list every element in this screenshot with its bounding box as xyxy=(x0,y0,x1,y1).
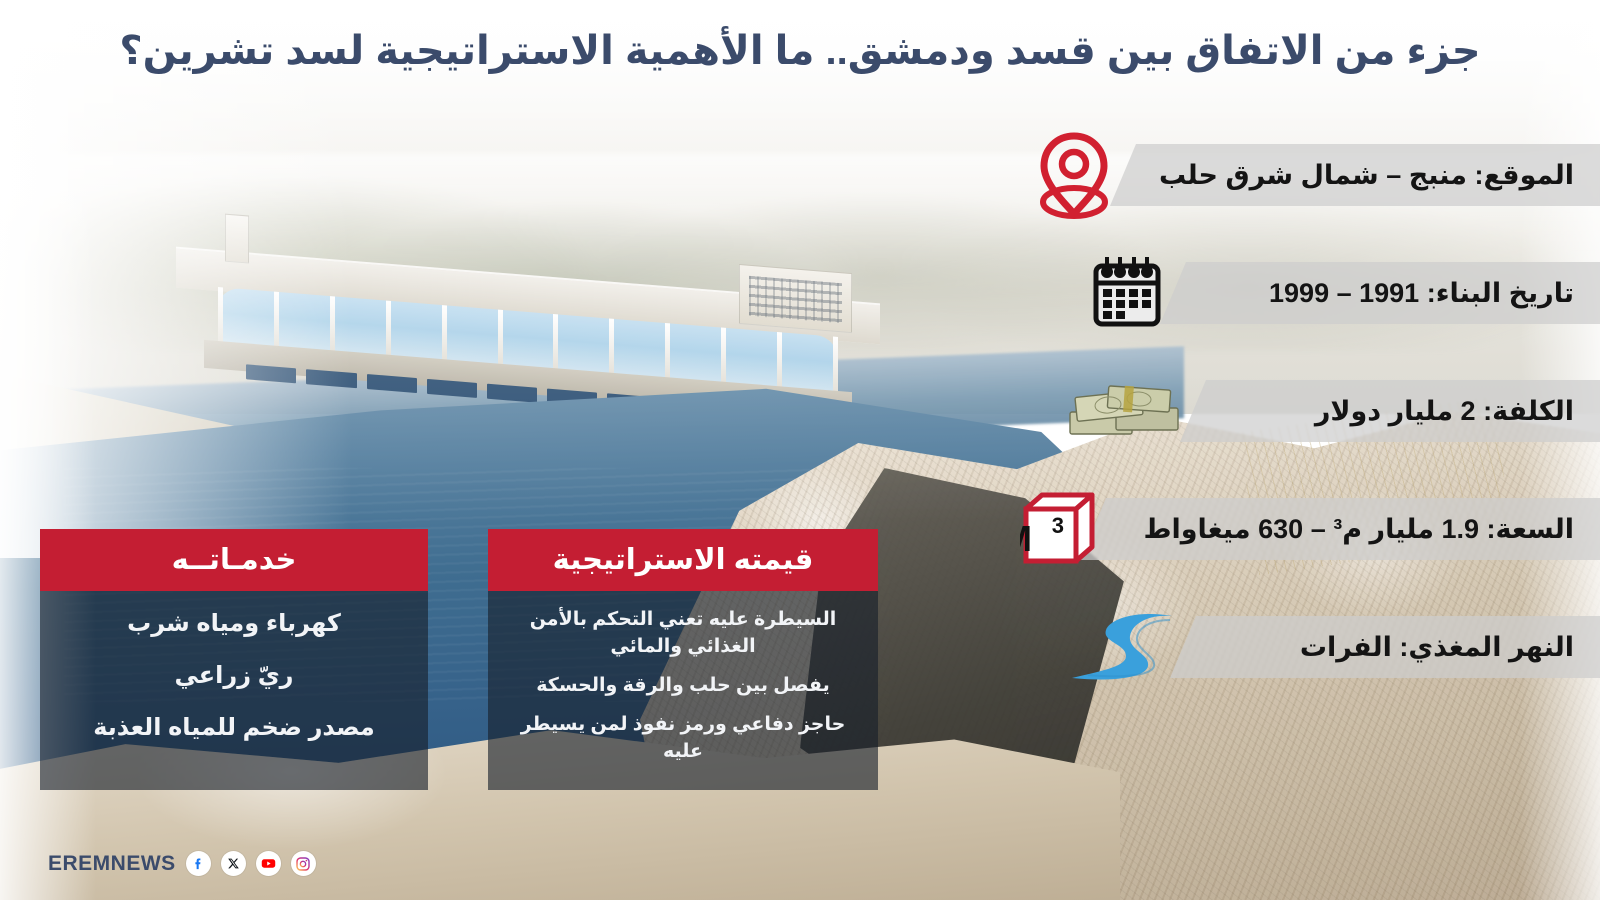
card-line: يفصل بين حلب والرقة والحسكة xyxy=(510,673,856,700)
powerhouse-windows xyxy=(749,276,842,323)
card-strategic-value: قيمته الاستراتيجية السيطرة عليه تعني الت… xyxy=(488,573,878,790)
dam-control-tower xyxy=(225,213,249,262)
card-line: حاجز دفاعي ورمز نفوذ لمن يسيطر عليه xyxy=(510,712,856,766)
instagram-icon[interactable] xyxy=(291,851,316,876)
fact-label-construction-date: تاريخ البناء: 1991 – 1999 xyxy=(1269,278,1574,309)
card-line: السيطرة عليه تعني التحكم بالأمن الغذائي … xyxy=(510,607,856,661)
card-body-strategic-value: السيطرة عليه تعني التحكم بالأمن الغذائي … xyxy=(488,603,878,772)
fact-ribbon-capacity: السعة: 1.9 مليار م³ – 630 ميغاواط xyxy=(1080,498,1600,560)
fact-label-location: الموقع: منبج – شمال شرق حلب xyxy=(1159,160,1574,191)
dam-powerhouse-building xyxy=(739,263,852,333)
fact-ribbon-location: الموقع: منبج – شمال شرق حلب xyxy=(1110,144,1600,206)
money-stack-icon xyxy=(1060,370,1190,450)
facebook-icon[interactable] xyxy=(186,851,211,876)
location-pin-icon xyxy=(1026,128,1122,224)
cubic-meter-icon: M 3 xyxy=(1018,488,1100,568)
brand-name: EREMNEWS xyxy=(48,852,176,876)
fact-label-cost: الكلفة: 2 مليار دولار xyxy=(1315,396,1574,427)
bottom-cards: قيمته الاستراتيجية السيطرة عليه تعني الت… xyxy=(40,573,878,790)
svg-text:3: 3 xyxy=(1052,513,1064,538)
card-line: مصدر ضخم للمياه العذبة xyxy=(62,711,406,745)
fact-row-construction-date: تاريخ البناء: 1991 – 1999 xyxy=(1000,246,1600,338)
fact-row-capacity: السعة: 1.9 مليار م³ – 630 ميغاواط M 3 xyxy=(1000,482,1600,574)
card-heading-strategic-value: قيمته الاستراتيجية xyxy=(488,529,878,591)
card-body-services: كهرباء ومياه شرب ريّ زراعي مصدر ضخم للمي… xyxy=(40,603,428,769)
calendar-icon xyxy=(1084,252,1170,332)
river-icon xyxy=(1060,606,1180,686)
card-services: خدمـاتــه كهرباء ومياه شرب ريّ زراعي مصد… xyxy=(40,573,428,790)
infographic-canvas: جزء من الاتفاق بين قسد ودمشق.. ما الأهمي… xyxy=(0,0,1600,900)
svg-text:M: M xyxy=(1020,518,1032,559)
x-twitter-icon[interactable] xyxy=(221,851,246,876)
footer-branding: EREMNEWS xyxy=(48,851,316,876)
card-heading-services: خدمـاتــه xyxy=(40,529,428,591)
fact-row-cost: الكلفة: 2 مليار دولار xyxy=(1000,364,1600,456)
fact-row-location: الموقع: منبج – شمال شرق حلب xyxy=(1000,128,1600,220)
fact-label-capacity: السعة: 1.9 مليار م³ – 630 ميغاواط xyxy=(1143,514,1574,545)
card-line: كهرباء ومياه شرب xyxy=(62,607,406,641)
fact-ribbon-construction-date: تاريخ البناء: 1991 – 1999 xyxy=(1160,262,1600,324)
youtube-icon[interactable] xyxy=(256,851,281,876)
fact-row-feeding-river: النهر المغذي: الفرات xyxy=(1000,600,1600,692)
fact-ribbon-feeding-river: النهر المغذي: الفرات xyxy=(1170,616,1600,678)
card-line: ريّ زراعي xyxy=(62,659,406,693)
fact-ribbon-cost: الكلفة: 2 مليار دولار xyxy=(1180,380,1600,442)
dam-facts-list: الموقع: منبج – شمال شرق حلب تاريخ البناء… xyxy=(1000,128,1600,718)
page-title: جزء من الاتفاق بين قسد ودمشق.. ما الأهمي… xyxy=(0,26,1600,76)
fact-label-feeding-river: النهر المغذي: الفرات xyxy=(1300,632,1574,663)
